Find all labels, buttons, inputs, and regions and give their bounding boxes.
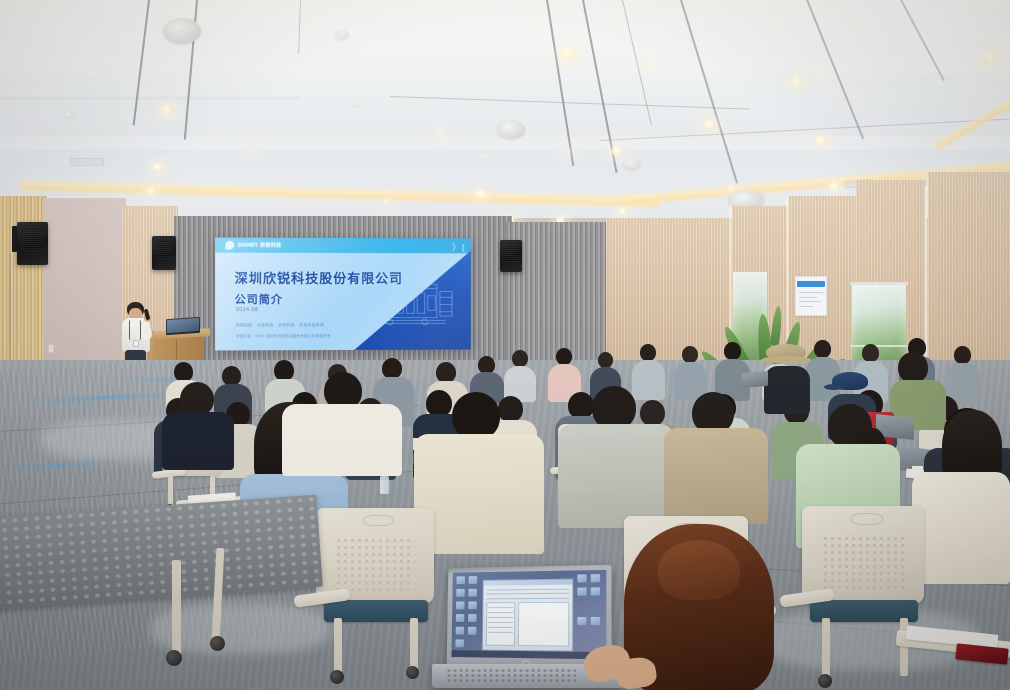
list-pane[interactable] xyxy=(486,602,516,646)
audience-member-taupe xyxy=(558,386,674,526)
downlight-off xyxy=(481,154,490,160)
downlight xyxy=(611,147,623,156)
chair-leg xyxy=(172,560,181,656)
presenter-badge xyxy=(133,340,139,347)
stage-right-speaker xyxy=(500,240,522,272)
stage-left-speaker xyxy=(152,236,176,270)
downlight xyxy=(382,198,391,205)
logo-text: SHINRY 欣锐科技 xyxy=(238,241,282,248)
slide-meta-line-1: 欣锐控股 · 欣锐科技 · 欣锐科技 · 欣锐科技有限 xyxy=(236,323,324,328)
audience-member-white-shirt xyxy=(282,372,402,472)
podium-laptop xyxy=(166,317,200,335)
audience-member-khaki xyxy=(664,392,768,522)
training-chair-foreground xyxy=(306,508,446,686)
downlight xyxy=(790,76,804,86)
hair-highlight xyxy=(658,540,740,600)
company-logo: SHINRY 欣锐科技 xyxy=(225,240,281,249)
downlight xyxy=(152,163,164,172)
chair-caster xyxy=(166,650,182,666)
projection-screen: SHINRY 欣锐科技 〉( xyxy=(215,238,471,351)
slide-subtitle: 公司简介 xyxy=(235,291,283,307)
downlight xyxy=(817,72,826,79)
wall-outlet xyxy=(48,344,54,353)
water-bottle xyxy=(380,476,389,494)
window-titlebar[interactable] xyxy=(484,580,573,586)
window-frame xyxy=(850,282,908,285)
downlight xyxy=(436,130,445,137)
conference-room-photo: SHINRY 欣锐科技 〉( xyxy=(0,0,1010,690)
downlight xyxy=(561,48,577,60)
ceiling-vent xyxy=(70,158,104,166)
downlight xyxy=(815,136,828,146)
downlight xyxy=(983,52,999,64)
presenter-lanyard xyxy=(129,320,141,340)
downlight-off xyxy=(352,101,362,108)
cap-brim xyxy=(824,384,844,390)
windows-taskbar[interactable] xyxy=(451,650,606,659)
poster-header-bar xyxy=(797,281,825,287)
ceiling-speaker-icon xyxy=(163,18,201,44)
slide-meta-line-2: 欣锐科技 · 2024 深圳市欣锐科技股份有限公司版权所有 xyxy=(236,333,331,338)
downlight-off xyxy=(62,110,75,119)
downlight xyxy=(648,63,657,70)
keyboard[interactable] xyxy=(446,668,576,684)
slide-corner-mark: 〉( xyxy=(452,240,466,253)
smoke-detector-icon xyxy=(335,30,349,40)
audience-member-near-left xyxy=(156,382,236,468)
ceiling-speaker-icon xyxy=(623,158,641,170)
downlight xyxy=(247,148,256,154)
downlight xyxy=(564,149,573,156)
presentation-slide: SHINRY 欣锐科技 〉( xyxy=(215,238,471,351)
laptop-screen xyxy=(451,570,606,659)
slide-date: 2024.08 xyxy=(236,308,259,314)
training-chair-foreground-right xyxy=(788,506,938,690)
cloud-logo-icon xyxy=(225,240,234,249)
left-wall-speaker xyxy=(17,222,48,265)
downlight xyxy=(160,105,175,116)
hat-brim xyxy=(761,356,811,364)
open-application-window[interactable] xyxy=(482,579,573,652)
detail-pane[interactable] xyxy=(518,602,569,647)
downlight xyxy=(703,120,716,129)
downlight xyxy=(476,190,488,199)
slide-title: 深圳欣锐科技股份有限公司 xyxy=(235,268,403,287)
ceiling-speaker-icon xyxy=(497,120,525,139)
chair-caster xyxy=(210,636,225,651)
audience-laptop xyxy=(742,371,768,388)
downlight xyxy=(146,187,157,195)
downlight xyxy=(618,208,628,216)
downlight xyxy=(829,183,840,191)
